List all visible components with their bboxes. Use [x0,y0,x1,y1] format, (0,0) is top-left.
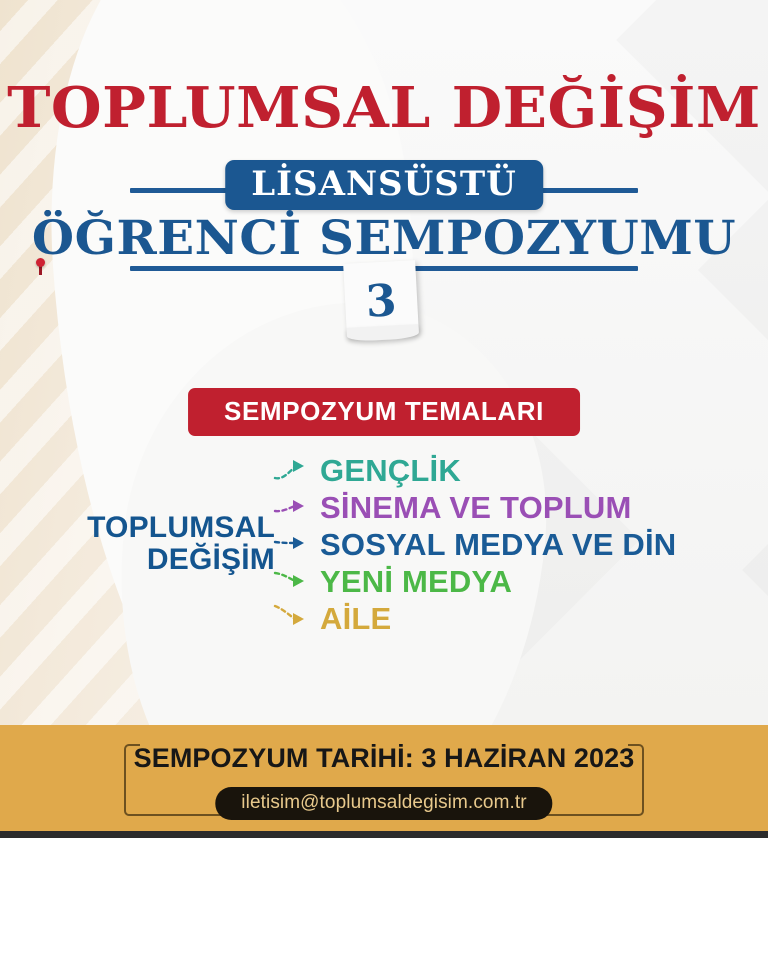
theme-item: AİLE [320,600,740,637]
dashed-arrow-icon [273,456,317,484]
dashed-arrow-icon [273,493,317,521]
dashed-arrow-icon [273,604,317,632]
lisansustu-badge: LİSANSÜSTÜ [225,160,543,210]
theme-label: GENÇLİK [320,455,461,486]
footer: İMH Genel Merkezi Eyüp Merkez Mh. Silaht… [0,838,768,960]
themes-banner: SEMPOZYUM TEMALARI [188,388,580,436]
dashed-arrow-icon [273,567,317,595]
themes-left-label: TOPLUMSAL DEĞİŞİM [55,512,275,576]
page-title: TOPLUMSAL DEĞİŞİM [0,80,768,136]
theme-label: AİLE [320,603,391,634]
themes-left-label-line1: TOPLUMSAL [55,512,275,544]
pushpin-icon [36,258,45,267]
contact-email[interactable]: iletisim@toplumsaldegisim.com.tr [215,787,552,820]
sticky-note: 3 [343,260,419,336]
pushpin-stem [39,266,42,275]
theme-label: SİNEMA VE TOPLUM [320,492,632,523]
theme-item: SİNEMA VE TOPLUM [320,489,740,526]
themes-left-label-line2: DEĞİŞİM [55,544,275,576]
theme-label: YENİ MEDYA [320,566,512,597]
background-chevron [742,372,768,768]
themes-list: GENÇLİK SİNEMA VE TOPLUM SOSYAL MEDYA VE… [320,452,740,637]
symposium-date: SEMPOZYUM TARİHİ: 3 HAZİRAN 2023 [0,745,768,772]
theme-item: GENÇLİK [320,452,740,489]
theme-label: SOSYAL MEDYA VE DİN [320,529,676,560]
dashed-arrow-icon [273,530,317,558]
poster: TOPLUMSAL DEĞİŞİM LİSANSÜSTÜ ÖĞRENCİ SEM… [0,0,768,960]
page-subtitle: ÖĞRENCİ SEMPOZYUMU [0,215,768,262]
edition-number: 3 [343,260,419,336]
theme-item: YENİ MEDYA [320,563,740,600]
theme-item: SOSYAL MEDYA VE DİN [320,526,740,563]
